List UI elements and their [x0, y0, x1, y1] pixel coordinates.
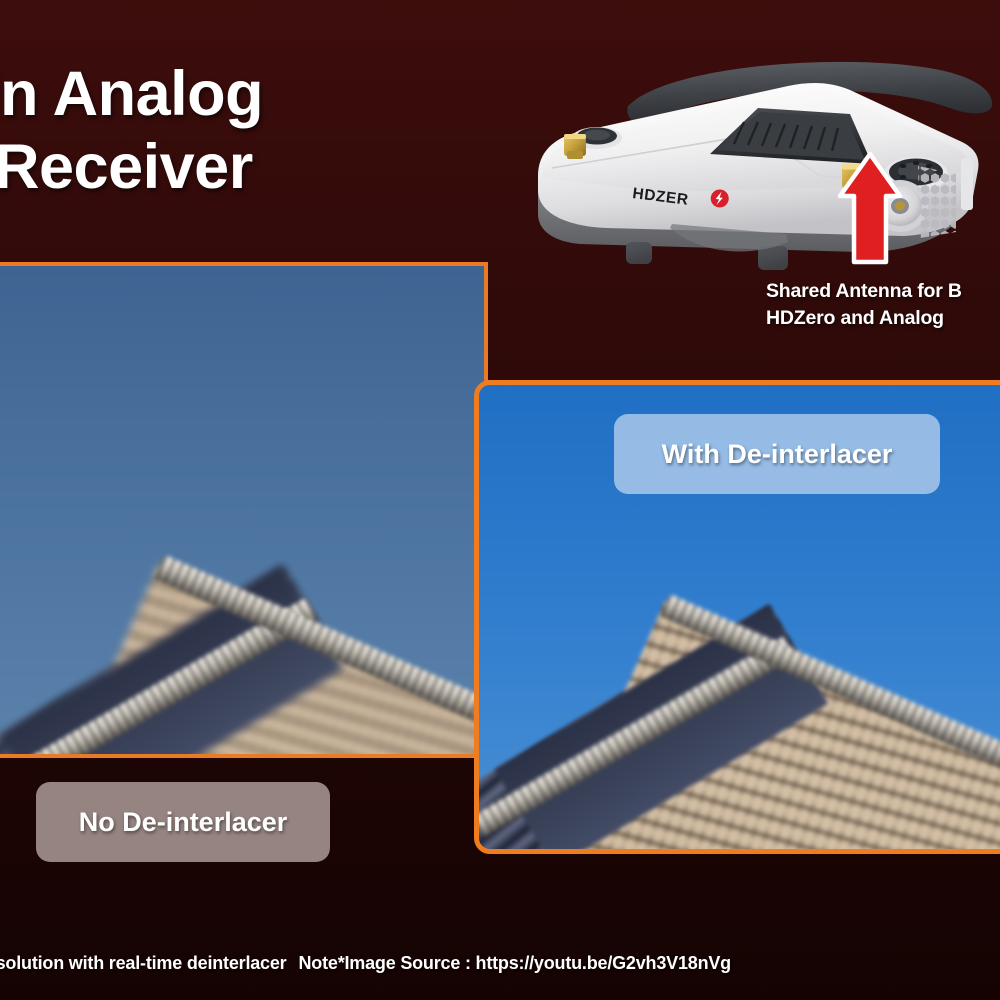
fpv-goggles-image: HDZER [520, 46, 1000, 296]
footer-image-source: Note*Image Source : https://youtu.be/G2v… [299, 953, 731, 973]
footer-text-primary: log video resolution with real-time dein… [0, 953, 287, 973]
no-deinterlacer-badge-label: No De-interlacer [79, 807, 288, 838]
antenna-caption-line-2: HDZero and Analog [766, 305, 1000, 332]
antenna-callout-caption: Shared Antenna for B HDZero and Analog [766, 278, 1000, 331]
hex-vent-grille [918, 166, 956, 238]
page-title: ilt-in Analog Receiver [0, 58, 508, 204]
no-deinterlacer-photo [0, 262, 488, 758]
slide-canvas: ilt-in Analog Receiver [0, 0, 1000, 1000]
with-deinterlacer-badge-label: With De-interlacer [662, 439, 893, 470]
page-title-line-2: Receiver [0, 131, 508, 204]
side-panel [961, 158, 973, 210]
footer-caption: log video resolution with real-time dein… [0, 953, 1000, 974]
antenna-caption-line-1: Shared Antenna for B [766, 278, 1000, 305]
roof-scene-blurred [0, 266, 484, 754]
no-deinterlacer-badge: No De-interlacer [36, 782, 330, 862]
page-title-line-1: ilt-in Analog [0, 59, 263, 129]
left-antenna-connector [564, 134, 586, 159]
with-deinterlacer-badge: With De-interlacer [614, 414, 940, 494]
goggles-svg: HDZER [520, 46, 1000, 296]
